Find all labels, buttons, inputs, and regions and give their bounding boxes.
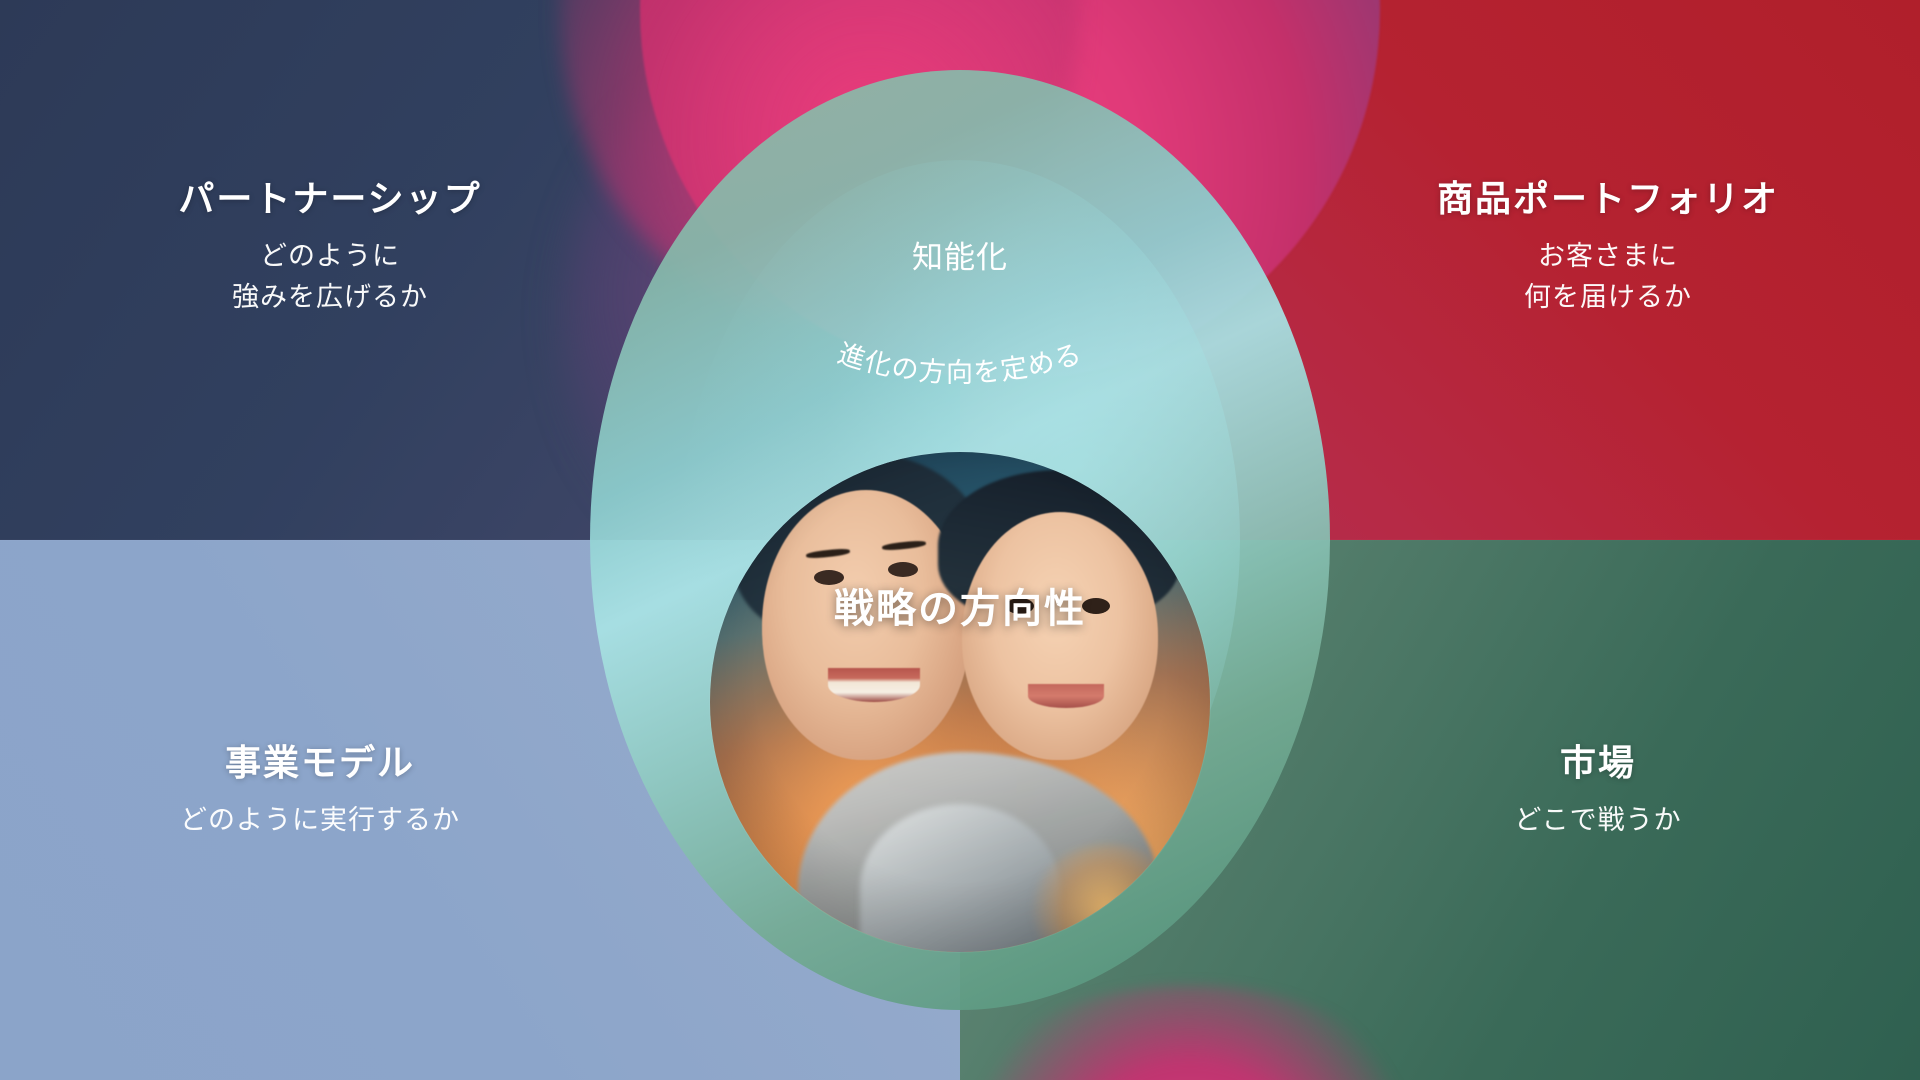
quadrant-partnership-subtitle-line1: どのように bbox=[90, 236, 570, 277]
quadrant-partnership-subtitle: どのように 強みを広げるか bbox=[90, 236, 570, 317]
quadrant-business-model-subtitle-line1: どのように実行するか bbox=[80, 800, 560, 841]
center-photo bbox=[710, 452, 1210, 952]
quadrant-product-portfolio-title: 商品ポートフォリオ bbox=[1368, 178, 1848, 220]
photo-vignette bbox=[710, 452, 1210, 952]
ring-subtitle: 進化の方向を定める bbox=[834, 338, 1085, 388]
center-composition: 知能化 進化の方向を定める 戦略の方向性 bbox=[580, 60, 1340, 1020]
quadrant-business-model: 事業モデル どのように実行するか bbox=[80, 742, 560, 841]
quadrant-market: 市場 どこで戦うか bbox=[1358, 742, 1838, 841]
ring-subtitle-text: 進化の方向を定める bbox=[834, 338, 1085, 388]
slide-canvas: 知能化 進化の方向を定める 戦略の方向性 パートナーシップ どのように 強みを広… bbox=[0, 0, 1920, 1080]
quadrant-partnership-title: パートナーシップ bbox=[90, 178, 570, 220]
quadrant-market-subtitle: どこで戦うか bbox=[1358, 800, 1838, 841]
quadrant-product-portfolio-subtitle-line1: お客さまに bbox=[1368, 236, 1848, 277]
quadrant-market-title: 市場 bbox=[1358, 742, 1838, 784]
quadrant-market-subtitle-line1: どこで戦うか bbox=[1358, 800, 1838, 841]
quadrant-product-portfolio: 商品ポートフォリオ お客さまに 何を届けるか bbox=[1368, 178, 1848, 317]
quadrant-business-model-title: 事業モデル bbox=[80, 742, 560, 784]
quadrant-partnership: パートナーシップ どのように 強みを広げるか bbox=[90, 178, 570, 317]
quadrant-product-portfolio-subtitle-line2: 何を届けるか bbox=[1368, 277, 1848, 318]
core-label: 戦略の方向性 bbox=[834, 576, 1086, 634]
ring-subtitle-arc: 進化の方向を定める bbox=[650, 210, 1270, 440]
quadrant-partnership-subtitle-line2: 強みを広げるか bbox=[90, 277, 570, 318]
quadrant-business-model-subtitle: どのように実行するか bbox=[80, 800, 560, 841]
quadrant-product-portfolio-subtitle: お客さまに 何を届けるか bbox=[1368, 236, 1848, 317]
